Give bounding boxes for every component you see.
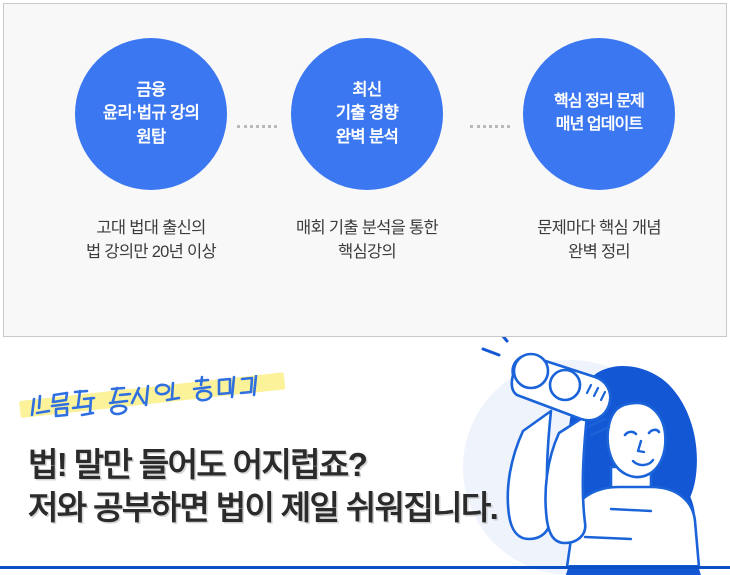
feature-column-1: 금융 윤리·법규 강의 원탑 고대 법대 출신의 법 강의만 20년 이상 xyxy=(41,38,261,265)
feature-column-2: 최신 기출 경향 완벽 분석 매회 기출 분석을 통한 핵심강의 xyxy=(257,38,477,265)
sparkle-line-1 xyxy=(497,337,507,341)
feature-circle-label-2: 최신 기출 경향 완벽 분석 xyxy=(336,79,398,149)
feature-circle-3: 핵심 정리 문제 매년 업데이트 xyxy=(523,38,675,190)
woman-with-binoculars-illustration xyxy=(455,337,730,575)
white-top xyxy=(567,487,699,567)
sparkle-line-3 xyxy=(483,349,499,355)
feature-caption-2: 매회 기출 분석을 통한 핵심강의 xyxy=(257,216,477,265)
promo-banner: 금융 윤리·법규 강의 원탑 고대 법대 출신의 법 강의만 20년 이상 최신… xyxy=(0,0,730,575)
feature-circle-label-3: 핵심 정리 문제 매년 업데이트 xyxy=(554,91,644,136)
message-area: 법! 말만 들어도 어지럽죠? 저와 공부하면 법이 제일 쉬워집니다. xyxy=(0,337,730,575)
binocular-lens-1 xyxy=(514,354,548,388)
feature-panel: 금융 윤리·법규 강의 원탑 고대 법대 출신의 법 강의만 20년 이상 최신… xyxy=(3,3,727,337)
handwriting-text-icon xyxy=(20,375,300,425)
binocular-lens-2 xyxy=(550,370,580,400)
feature-caption-3: 문제마다 핵심 개념 완벽 정리 xyxy=(489,216,709,265)
feature-circle-1: 금융 윤리·법규 강의 원탑 xyxy=(75,38,227,190)
bottom-rule xyxy=(0,566,730,569)
forearm-left xyxy=(508,411,551,539)
feature-caption-1: 고대 법대 출신의 법 강의만 20년 이상 xyxy=(41,216,261,265)
face xyxy=(608,403,666,477)
feature-column-3: 핵심 정리 문제 매년 업데이트 문제마다 핵심 개념 완벽 정리 xyxy=(489,38,709,265)
handwritten-tagline xyxy=(20,375,300,425)
feature-circle-label-1: 금융 윤리·법규 강의 원탑 xyxy=(103,79,199,149)
forearm-right xyxy=(546,415,588,543)
feature-circle-2: 최신 기출 경향 완벽 분석 xyxy=(291,38,443,190)
